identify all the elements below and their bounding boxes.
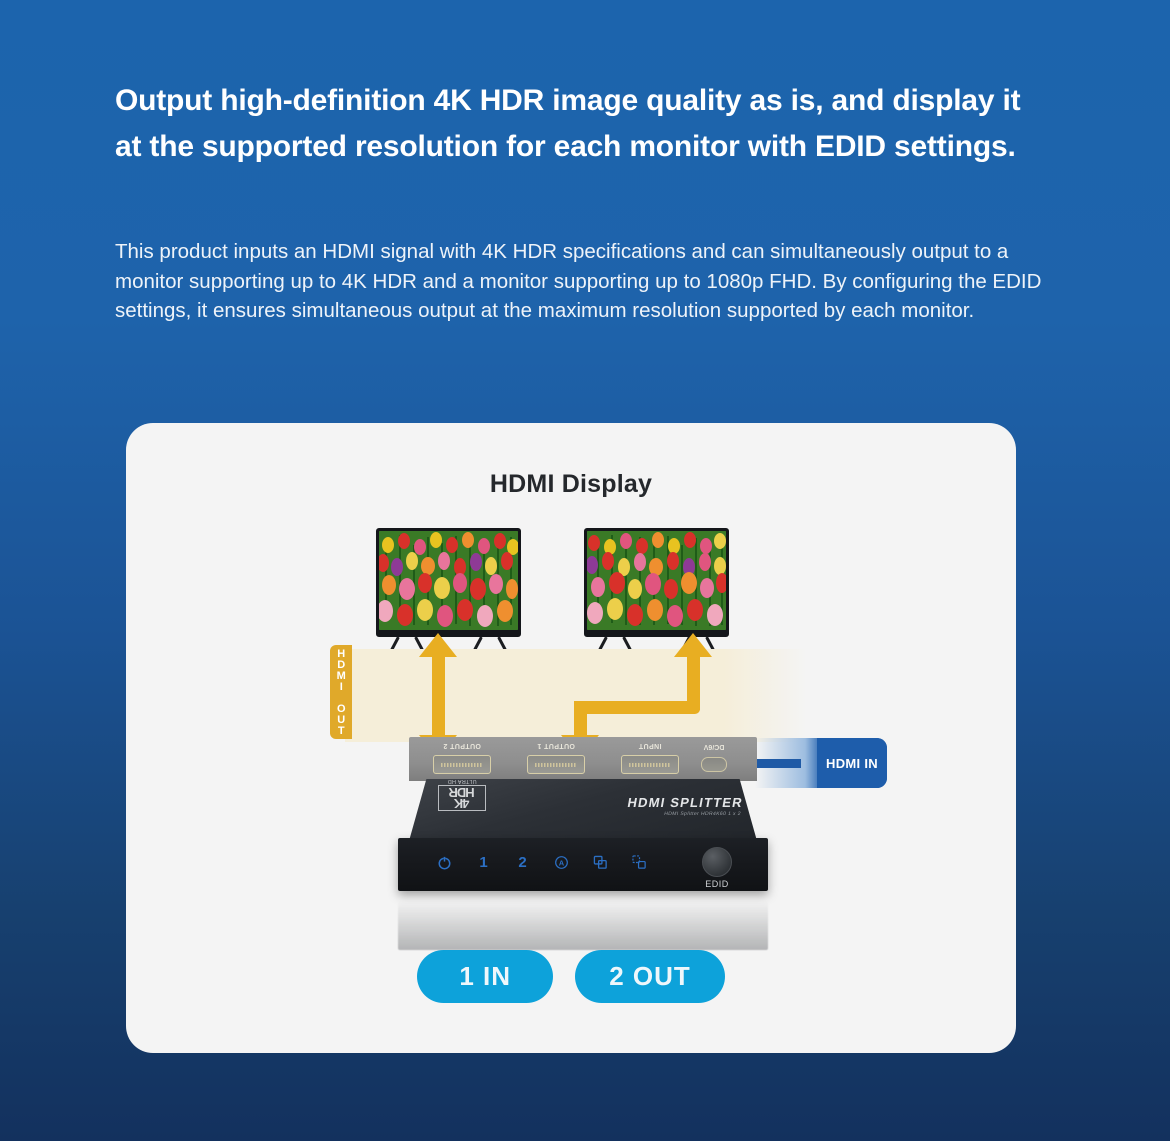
hdmi-splitter-device: OUTPUT 2 OUTPUT 1 INPUT DC/6V 4KHDR ULTR… [398, 737, 768, 922]
device-back-panel: OUTPUT 2 OUTPUT 1 INPUT DC/6V [409, 737, 757, 781]
tv-screen [379, 531, 518, 630]
device-indicator-row: 1 2 A [436, 854, 648, 871]
arrow-output1-head-up [674, 633, 712, 657]
diagram-card: HDMI Display [126, 423, 1016, 1053]
copy-icon [592, 854, 609, 871]
tulip-field-image [379, 531, 518, 630]
port-input [621, 755, 679, 774]
arrow-output2-shaft [432, 655, 445, 737]
page-headline: Output high-definition 4K HDR image qual… [115, 78, 1035, 169]
port-output2 [433, 755, 491, 774]
arrow-output1-shaft-up [687, 655, 700, 710]
badge-2-out: 2 OUT [575, 950, 725, 1003]
4k-hdr-ultrahd-logo: 4KHDR ULTRA HD [438, 785, 486, 811]
tv-bezel [584, 528, 729, 637]
hdmi-out-label: HDMI OUT [336, 648, 346, 736]
page-description: This product inputs an HDMI signal with … [115, 237, 1065, 326]
io-summary-badges: 1 IN 2 OUT [126, 950, 1016, 1003]
edid-button[interactable] [702, 847, 732, 877]
port-label-output2: OUTPUT 2 [433, 742, 491, 749]
port-label-dc: DC/6V [697, 743, 731, 750]
power-icon [436, 854, 453, 871]
arrow-output1-horizontal [574, 701, 700, 714]
tv-screen [587, 531, 726, 630]
port-label-output1: OUTPUT 1 [527, 742, 585, 749]
logo-ultrahd-text: ULTRA HD [438, 778, 486, 784]
hdmi-out-tab: HDMI OUT [330, 645, 352, 739]
auto-icon: A [553, 854, 570, 871]
tv-bezel [376, 528, 521, 637]
edid-mode-icon [631, 854, 648, 871]
svg-text:A: A [559, 858, 565, 867]
brand-subtitle: HDMI Splitter HDR4K60 1 x 2 [625, 811, 741, 817]
arrow-output2-head-up [419, 633, 457, 657]
device-reflection [398, 892, 768, 950]
device-branding: HDMI SPLITTER HDMI Splitter HDR4K60 1 x … [625, 795, 744, 817]
indicator-1: 1 [475, 854, 492, 871]
hdmi-in-badge: HDMI IN [817, 738, 887, 788]
brand-name: HDMI SPLITTER [626, 795, 744, 810]
tulip-field-image [587, 531, 726, 630]
logo-hdr-text: HDR [449, 785, 474, 800]
port-output1 [527, 755, 585, 774]
indicator-2: 2 [514, 854, 531, 871]
badge-1-in: 1 IN [417, 950, 553, 1003]
port-dc-power [701, 757, 727, 772]
port-label-input: INPUT [621, 742, 679, 749]
edid-button-label: EDID [696, 879, 738, 889]
diagram-title: HDMI Display [126, 470, 1016, 499]
